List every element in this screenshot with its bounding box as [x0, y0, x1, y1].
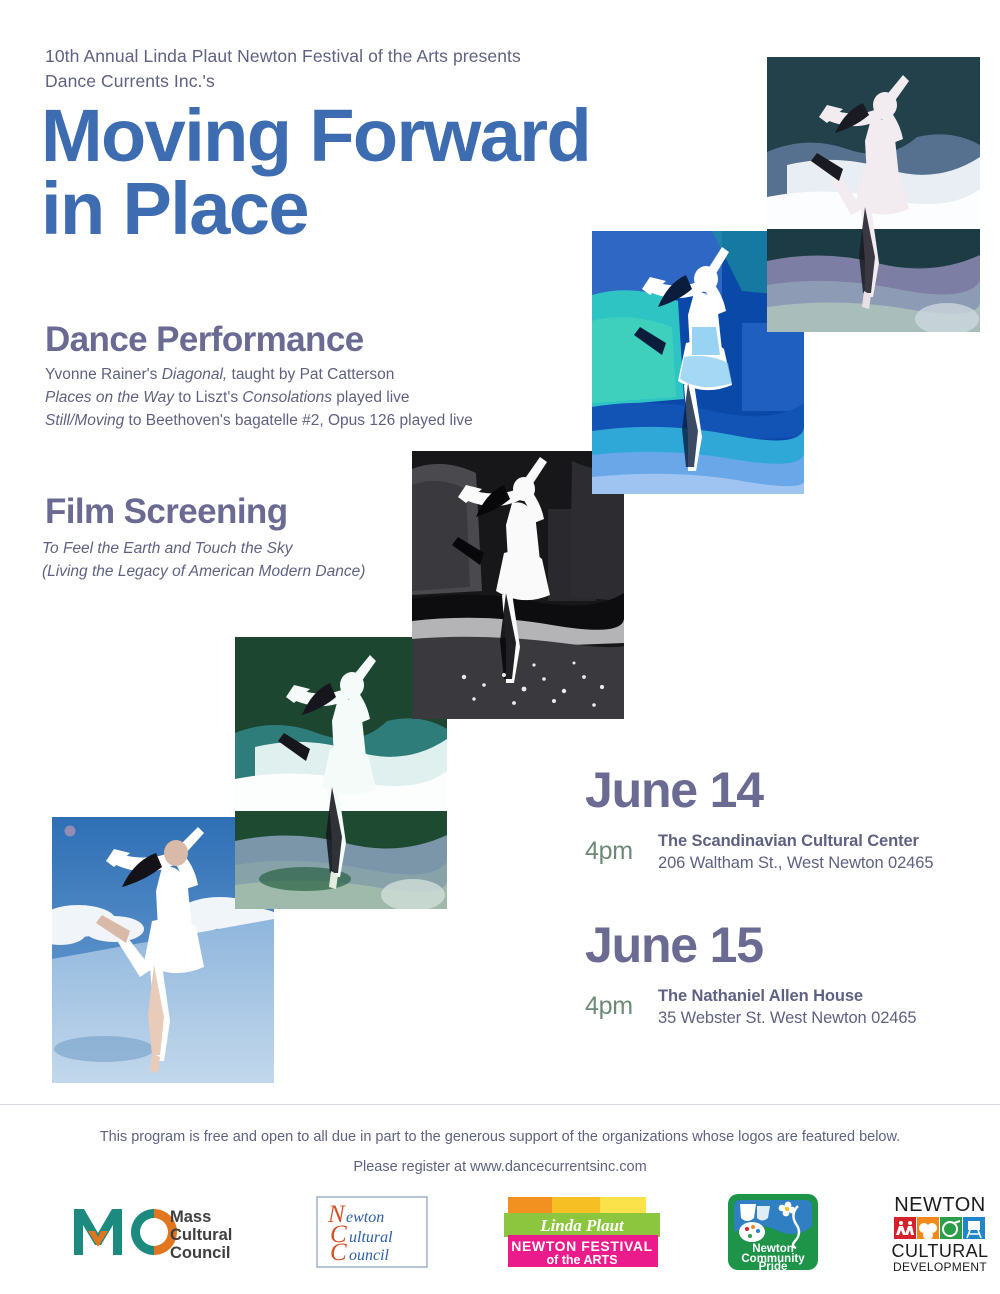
logo-initial: C [330, 1239, 347, 1266]
text-line: To Feel the Earth and Touch the Sky [42, 538, 462, 561]
logo-line-rest: ouncil [349, 1247, 390, 1264]
section-heading-dance-performance: Dance Performance [45, 320, 364, 360]
sponsor-logo-row: Mass Cultural Council N ewton C ultural … [0, 1186, 1000, 1278]
event-date: June 15 [585, 920, 917, 970]
logo-line: Mass [170, 1208, 211, 1226]
logo-newton-cultural-development: NEWTON [880, 1191, 1000, 1273]
logo-line: NEWTON FESTIVAL [511, 1238, 652, 1254]
logo-line: Pride [759, 1261, 788, 1272]
event-address: 35 Webster St. West Newton 02465 [658, 1007, 917, 1029]
section-body-film-screening: To Feel the Earth and Touch the Sky(Livi… [42, 538, 462, 584]
page-title: Moving Forward in Place [41, 100, 741, 245]
poster-canvas: 10th Annual Linda Plaut Newton Festival … [0, 0, 1000, 1294]
footer-line-support: This program is free and open to all due… [0, 1122, 1000, 1152]
logo-line: DEVELOPMENT [893, 1260, 987, 1273]
event-venue: The Nathaniel Allen House [658, 985, 917, 1007]
logo-line-rest: ultural [349, 1229, 393, 1246]
footer-divider [0, 1104, 1000, 1105]
section-body-dance-performance: Yvonne Rainer's Diagonal, taught by Pat … [45, 364, 565, 433]
text-line: Yvonne Rainer's Diagonal, taught by Pat … [45, 364, 565, 387]
mcc-mark-icon [74, 1209, 177, 1255]
section-heading-film-screening: Film Screening [45, 492, 288, 532]
footer-text: This program is free and open to all due… [0, 1122, 1000, 1183]
logo-line: NEWTON [894, 1194, 986, 1216]
event-date: June 14 [585, 765, 933, 815]
event-block: June 14 4pm The Scandinavian Cultural Ce… [585, 765, 933, 875]
footer-line-register: Please register at www.dancecurrentsinc.… [0, 1152, 1000, 1182]
text-line: (Living the Legacy of American Modern Da… [42, 561, 462, 584]
kicker-text: 10th Annual Linda Plaut Newton Festival … [45, 44, 685, 94]
event-address: 206 Waltham St., West Newton 02465 [658, 852, 933, 874]
event-time: 4pm [585, 992, 658, 1021]
palette-icon [739, 1222, 765, 1242]
logo-newton-community-pride: Newton Community Pride [719, 1192, 828, 1272]
event-time: 4pm [585, 837, 658, 866]
logo-newton-cultural-council: N ewton C ultural C ouncil [305, 1196, 438, 1268]
logo-line: Council [170, 1244, 231, 1262]
event-venue: The Scandinavian Cultural Center [658, 830, 933, 852]
logo-line: of the ARTS [547, 1253, 618, 1267]
text-line: Places on the Way to Liszt's Consolation… [45, 387, 565, 410]
logo-line-rest: ewton [346, 1209, 384, 1226]
dancer-photo-teal [767, 57, 980, 332]
logo-line: CULTURAL [891, 1241, 988, 1261]
text-line: Still/Moving to Beethoven's bagatelle #2… [45, 410, 565, 433]
logo-mass-cultural-council: Mass Cultural Council [48, 1201, 293, 1263]
logo-script: Linda Plaut [539, 1216, 625, 1235]
logo-line: Cultural [170, 1226, 232, 1244]
logo-icon-squares [894, 1217, 985, 1240]
logo-newton-festival-of-the-arts: Linda Plaut NEWTON FESTIVAL of the ARTS [493, 1193, 671, 1271]
event-block: June 15 4pm The Nathaniel Allen House 35… [585, 920, 917, 1030]
